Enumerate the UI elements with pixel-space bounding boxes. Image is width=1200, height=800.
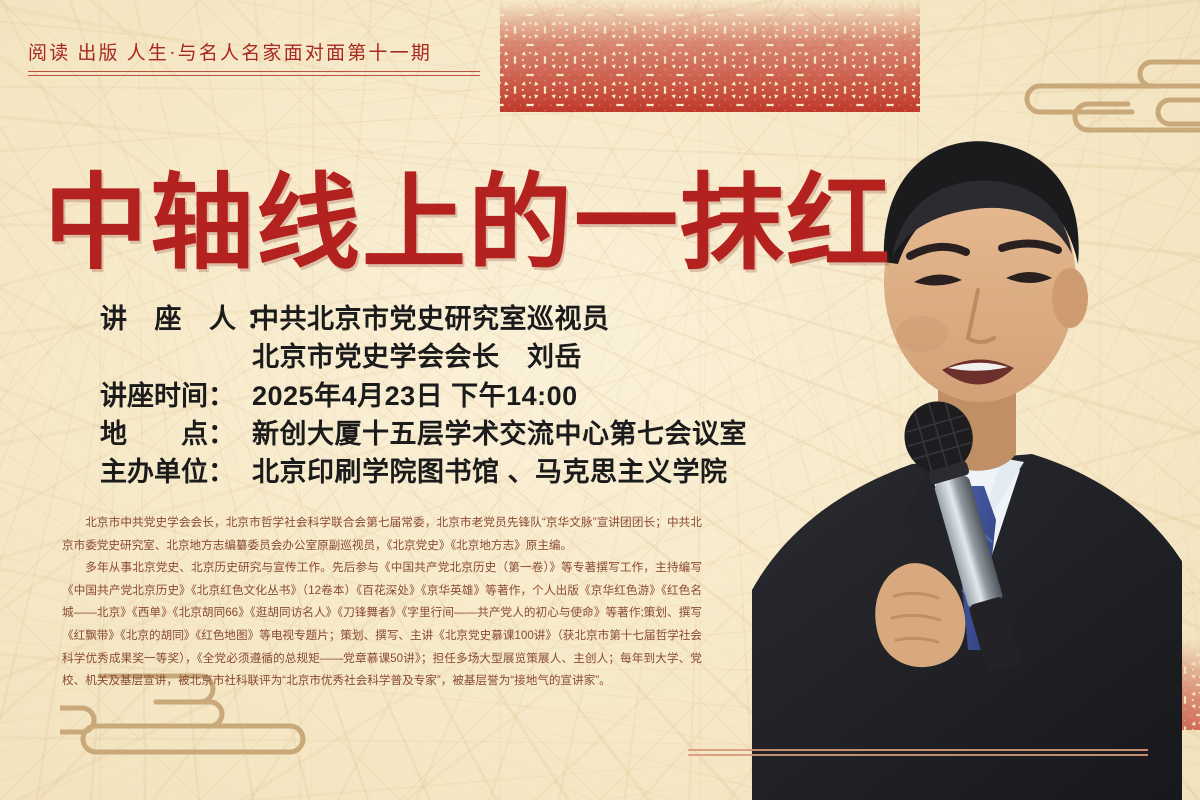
info-label: 讲 座 人：: [100, 300, 252, 338]
poster-canvas: 阅读 出版 人生·与名人名家面对面第十一期: [0, 0, 1200, 800]
eyebrow-divider: [28, 71, 480, 76]
info-row: 讲座时间： 2025年4月23日 下午14:00: [100, 377, 740, 415]
biography-paragraph: 多年从事北京党史、北京历史研究与宣传工作。先后参与《中国共产党北京历史（第一卷）…: [62, 557, 702, 693]
info-value: 中共北京市党史研究室巡视员: [252, 300, 610, 338]
speaker-biography: 北京市中共党史学会会长，北京市哲学社会科学联合会第七届常委，北京市老党员先锋队“…: [62, 512, 702, 693]
event-info-block: 讲 座 人： 中共北京市党史研究室巡视员 讲 座 人： 北京市党史学会会长 刘岳…: [100, 300, 740, 492]
bottom-divider: [688, 749, 1148, 756]
info-value: 北京市党史学会会长 刘岳: [252, 338, 582, 376]
info-label: 主办单位：: [100, 453, 252, 491]
info-label: 地 点：: [100, 415, 252, 453]
biography-paragraph: 北京市中共党史学会会长，北京市哲学社会科学联合会第七届常委，北京市老党员先锋队“…: [62, 512, 702, 557]
info-value: 新创大厦十五层学术交流中心第七会议室: [252, 415, 747, 453]
series-eyebrow: 阅读 出版 人生·与名人名家面对面第十一期: [28, 38, 480, 76]
info-row: 地 点： 新创大厦十五层学术交流中心第七会议室: [100, 415, 740, 453]
info-row: 主办单位： 北京印刷学院图书馆 、马克思主义学院: [100, 453, 740, 491]
page-title: 中轴线上的一抹红: [44, 168, 892, 280]
info-value: 北京印刷学院图书馆 、马克思主义学院: [252, 453, 728, 491]
info-value: 2025年4月23日 下午14:00: [252, 377, 578, 415]
info-row: 讲 座 人： 北京市党史学会会长 刘岳: [100, 338, 740, 376]
series-eyebrow-text: 阅读 出版 人生·与名人名家面对面第十一期: [28, 38, 480, 65]
info-label: 讲座时间：: [100, 377, 252, 415]
info-row: 讲 座 人： 中共北京市党史研究室巡视员: [100, 300, 740, 338]
